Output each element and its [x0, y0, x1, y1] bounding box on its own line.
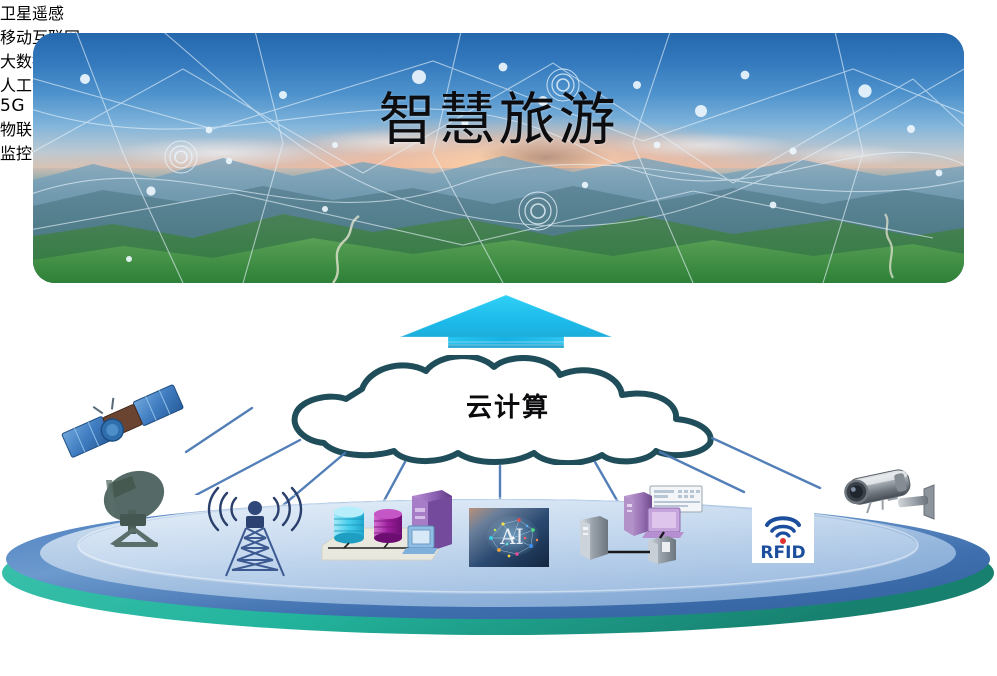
page-title: 智慧旅游 — [33, 91, 964, 151]
satellite-dish-icon — [88, 470, 184, 552]
rfid-badge-text: RFID — [760, 543, 805, 563]
ai-brain-icon: AI — [469, 508, 549, 567]
node-label-satellite: 卫星遥感 — [0, 0, 997, 24]
ai-badge-text: AI — [499, 525, 523, 549]
network-overlay — [33, 33, 964, 283]
satellite-icon — [58, 372, 188, 472]
computer-network-icon — [572, 484, 704, 566]
cell-tower-icon — [206, 482, 304, 578]
hero-banner: 智慧旅游 — [33, 33, 964, 283]
diagram-canvas: 智慧旅游 云计算 — [0, 0, 997, 676]
cctv-camera-icon — [838, 465, 942, 533]
database-server-icon — [320, 488, 456, 570]
rfid-icon: RFID — [752, 501, 814, 563]
